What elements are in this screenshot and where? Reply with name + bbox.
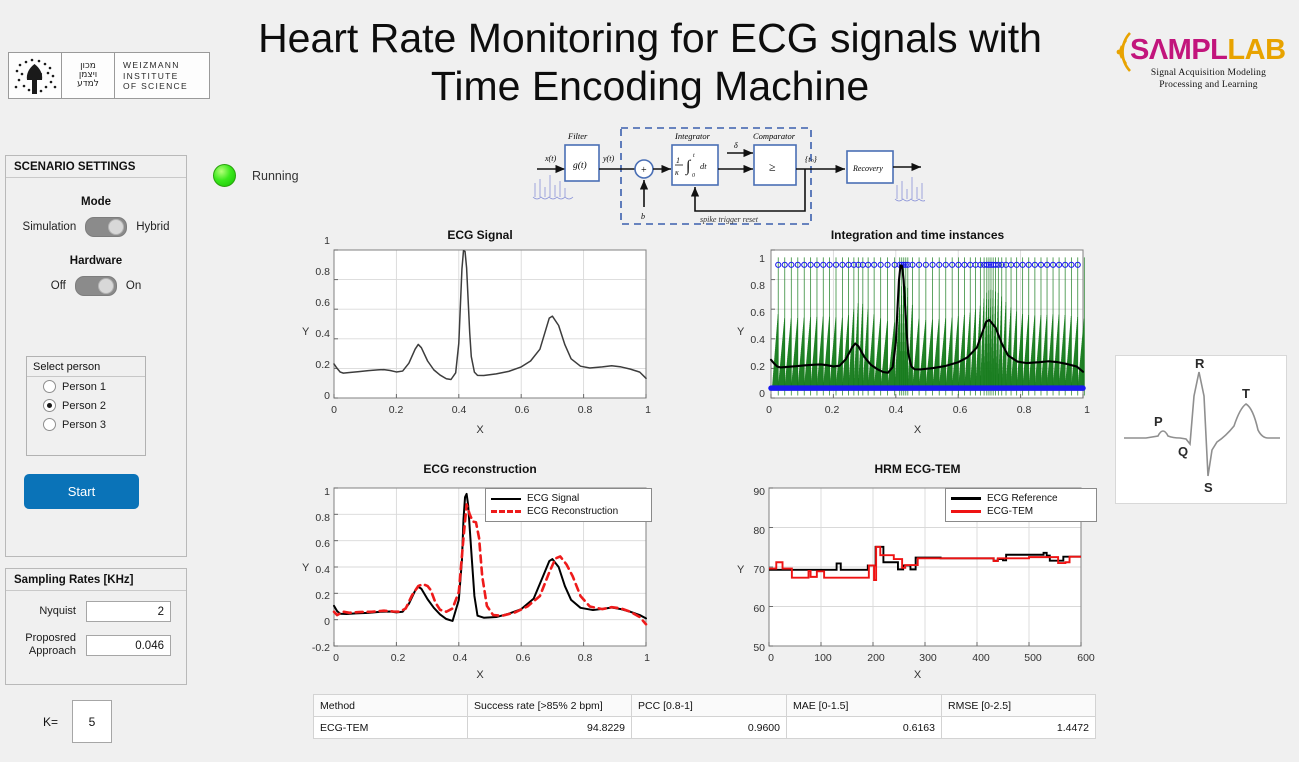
proposed-approach-input[interactable]: 0.046 — [86, 635, 171, 656]
hebrew-line-3: למדע — [77, 80, 99, 89]
radio-label-person-2: Person 2 — [62, 400, 106, 412]
radio-icon-person-1 — [43, 380, 56, 393]
english-line-3: OF SCIENCE — [123, 81, 209, 92]
chart-hrm-ecg-tem: HRM ECG-TEM Y X 50 60 70 80 90 0 100 200… — [735, 462, 1100, 688]
radio-icon-person-2 — [43, 399, 56, 412]
filter-body: g(t) — [573, 160, 587, 171]
pqrst-waveform-svg: P Q R S T — [1116, 356, 1286, 503]
legend-entry-0: ECG Reference — [951, 492, 1091, 505]
hardware-right-label: On — [126, 280, 141, 292]
spike-times-label: {tₙ} — [805, 155, 818, 164]
column-header-pcc: PCC [0.8-1] — [632, 695, 787, 717]
sum-symbol: + — [641, 165, 647, 176]
label-p: P — [1154, 414, 1163, 429]
chart-hrm-legend: ECG Reference ECG-TEM — [945, 488, 1097, 522]
cell-method: ECG-TEM — [314, 717, 468, 739]
legend-label-ecg-signal: ECG Signal — [527, 492, 579, 505]
legend-swatch-ecg-reconstruction — [491, 510, 521, 513]
pqrst-trace — [1124, 372, 1280, 476]
nyquist-input[interactable]: 2 — [86, 601, 171, 622]
page-title-line-2: Time Encoding Machine — [200, 62, 1100, 110]
tree-glyph — [11, 56, 59, 96]
output-waveform-icon — [895, 177, 925, 201]
chart-integration-plot — [735, 228, 1100, 440]
radio-icon-person-3 — [43, 418, 56, 431]
weizmann-english-text: WEIZMANN INSTITUTE OF SCIENCE — [115, 53, 209, 98]
svg-text:1: 1 — [676, 156, 680, 165]
column-header-rmse: RMSE [0-2.5] — [942, 695, 1096, 717]
radio-person-1[interactable]: Person 1 — [27, 377, 145, 396]
english-line-2: INSTITUTE — [123, 71, 209, 82]
proposed-approach-label: Proposred Approach — [18, 632, 76, 658]
radio-person-3[interactable]: Person 3 — [27, 415, 145, 434]
mode-toggle-knob — [108, 219, 124, 235]
filter-title: Filter — [567, 131, 588, 141]
table-header-row: Method Success rate [>85% 2 bpm] PCC [0.… — [314, 695, 1096, 717]
pqrst-reference-figure: P Q R S T — [1115, 355, 1287, 504]
nyquist-label: Nyquist — [18, 605, 76, 618]
recovery-title: Recovery — [852, 164, 883, 173]
sampl-subtitle-line-1: Signal Acquisition Modeling — [1126, 68, 1291, 80]
chart-ecg-signal: ECG Signal Y X 0 0.2 0.4 0.6 0.8 1 0 0.2… — [300, 228, 660, 440]
mode-toggle-switch[interactable] — [85, 217, 127, 237]
radio-label-person-3: Person 3 — [62, 419, 106, 431]
results-table: Method Success rate [>85% 2 bpm] PCC [0.… — [313, 694, 1096, 739]
comparator-title: Comparator — [753, 131, 796, 141]
sampl-lab-logo: SΛMPLLAB Signal Acquisition Modeling Pro… — [1096, 24, 1292, 100]
legend-swatch-ecg-reference — [951, 497, 981, 500]
hardware-toggle-switch[interactable] — [75, 276, 117, 296]
weizmann-institute-logo: מכון ויצמן למדע WEIZMANN INSTITUTE OF SC… — [8, 52, 210, 99]
legend-swatch-ecg-tem — [951, 510, 981, 513]
nyquist-row: Nyquist 2 — [6, 601, 186, 622]
start-button[interactable]: Start — [24, 474, 139, 509]
column-header-mae: MAE [0-1.5] — [787, 695, 942, 717]
proposed-approach-label-line2: Approach — [29, 645, 76, 657]
tem-block-diagram: x(t) Filter g(t) y(t) + b Integrator 1 — [505, 125, 925, 235]
sampl-subtitle-line-2: Processing and Learning — [1126, 80, 1291, 92]
hardware-label: Hardware — [6, 255, 186, 267]
column-header-success-rate: Success rate [>85% 2 bpm] — [468, 695, 632, 717]
mode-label: Mode — [6, 196, 186, 208]
mode-toggle-row: Simulation Hybrid — [6, 217, 186, 237]
legend-label-ecg-tem: ECG-TEM — [987, 505, 1033, 518]
weizmann-hebrew-text: מכון ויצמן למדע — [62, 53, 115, 98]
table-row[interactable]: ECG-TEM 94.8229 0.9600 0.6163 1.4472 — [314, 717, 1096, 739]
chart-reconstruction-legend: ECG Signal ECG Reconstruction — [485, 488, 652, 522]
page-title: Heart Rate Monitoring for ECG signals wi… — [200, 14, 1100, 110]
hardware-toggle-row: Off On — [6, 276, 186, 296]
integrator-title: Integrator — [674, 131, 711, 141]
sampl-word-part2: ΛMPL — [1149, 34, 1228, 66]
sampl-word-part1: S — [1130, 34, 1149, 66]
scenario-settings-title: SCENARIO SETTINGS — [6, 156, 186, 178]
sampl-lab-subtitle: Signal Acquisition Modeling Processing a… — [1126, 68, 1291, 91]
cell-rmse: 1.4472 — [942, 717, 1096, 739]
label-t: T — [1242, 386, 1250, 401]
proposed-approach-row: Proposred Approach 0.046 — [6, 632, 186, 658]
weizmann-tree-icon — [9, 53, 62, 98]
scenario-settings-panel: SCENARIO SETTINGS Mode Simulation Hybrid… — [5, 155, 187, 557]
hardware-toggle-knob — [98, 278, 114, 294]
radio-person-2[interactable]: Person 2 — [27, 396, 145, 415]
legend-swatch-ecg-signal — [491, 498, 521, 500]
application-window: מכון ויצמן למדע WEIZMANN INSTITUTE OF SC… — [0, 0, 1299, 762]
page-title-line-1: Heart Rate Monitoring for ECG signals wi… — [200, 14, 1100, 62]
svg-text:κ: κ — [675, 168, 679, 177]
proposed-approach-label-line1: Proposred — [25, 632, 76, 644]
sampling-rates-panel: Sampling Rates [KHz] Nyquist 2 Proposred… — [5, 568, 187, 685]
filtered-signal-label: y(t) — [602, 154, 614, 163]
legend-label-ecg-reference: ECG Reference — [987, 492, 1058, 505]
header: מכון ויצמן למדע WEIZMANN INSTITUTE OF SC… — [0, 0, 1299, 120]
k-input[interactable]: 5 — [72, 700, 112, 743]
svg-text:dt: dt — [700, 161, 707, 171]
delta-label: δ — [734, 141, 738, 150]
mode-left-label: Simulation — [23, 221, 77, 233]
cell-mae: 0.6163 — [787, 717, 942, 739]
select-person-group: Select person Person 1 Person 2 Person 3 — [26, 356, 146, 456]
chart-integration: Integration and time instances Y X 0 0.2… — [735, 228, 1100, 440]
select-person-label: Select person — [27, 357, 145, 377]
status-indicator: Running — [213, 164, 299, 187]
sampl-lab-wordmark: SΛMPLLAB — [1130, 34, 1286, 67]
label-s: S — [1204, 480, 1213, 495]
running-lamp-icon — [213, 164, 236, 187]
k-parameter-row: K= 5 — [5, 700, 185, 743]
label-r: R — [1195, 356, 1205, 371]
sampling-rates-title: Sampling Rates [KHz] — [6, 569, 186, 591]
input-signal-label: x(t) — [544, 154, 556, 163]
legend-entry-0: ECG Signal — [491, 492, 646, 505]
spike-trigger-reset-label: spike trigger reset — [700, 215, 759, 224]
legend-label-ecg-reconstruction: ECG Reconstruction — [527, 505, 618, 518]
hardware-left-label: Off — [51, 280, 66, 292]
comparator-body: ≥ — [769, 160, 776, 174]
block-diagram-svg: x(t) Filter g(t) y(t) + b Integrator 1 — [505, 125, 925, 235]
legend-entry-1: ECG-TEM — [951, 505, 1091, 518]
chart-ecg-signal-plot — [300, 228, 660, 440]
bias-label: b — [641, 212, 645, 221]
column-header-method: Method — [314, 695, 468, 717]
legend-entry-1: ECG Reconstruction — [491, 505, 646, 518]
sampl-word-part3: LAB — [1227, 34, 1285, 66]
k-label: K= — [43, 715, 58, 729]
label-q: Q — [1178, 444, 1188, 459]
radio-label-person-1: Person 1 — [62, 381, 106, 393]
mode-right-label: Hybrid — [136, 221, 169, 233]
chart-reconstruction: ECG reconstruction Y X -0.2 0 0.2 0.4 0.… — [300, 462, 660, 688]
svg-text:0: 0 — [692, 173, 695, 179]
cell-success-rate: 94.8229 — [468, 717, 632, 739]
status-label: Running — [252, 169, 299, 183]
english-line-1: WEIZMANN — [123, 60, 209, 71]
cell-pcc: 0.9600 — [632, 717, 787, 739]
